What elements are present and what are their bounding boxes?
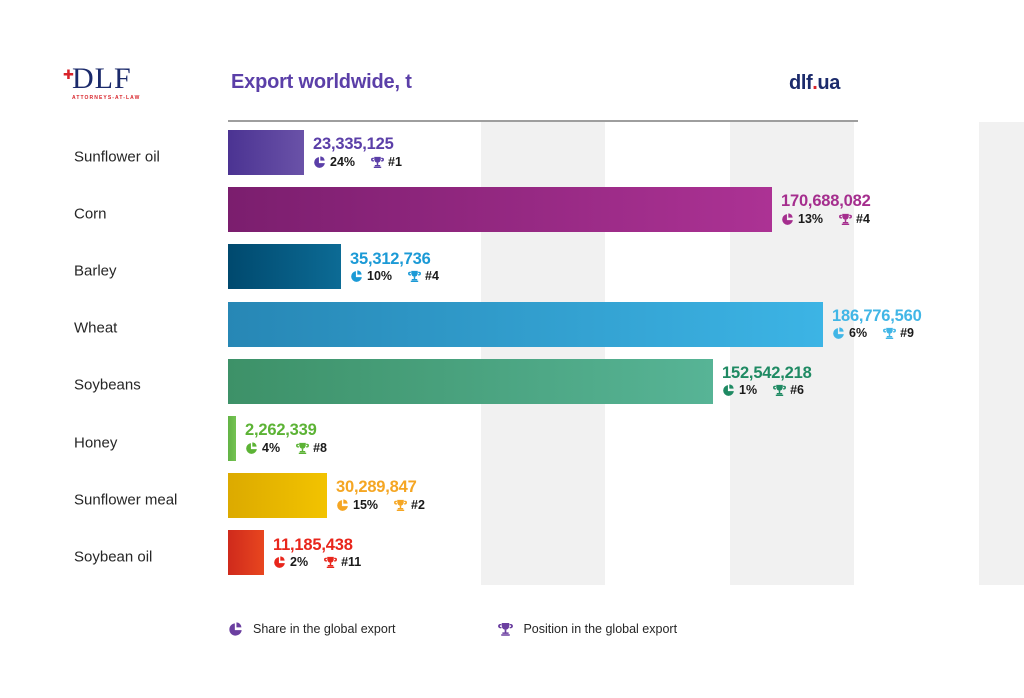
bar[interactable]: [228, 530, 264, 575]
category-label: Soybean oil: [74, 548, 208, 565]
logo-mark-text: DLF: [72, 62, 132, 95]
bar-value-label: 186,776,560: [832, 308, 922, 325]
bar-value-label: 35,312,736: [350, 251, 439, 268]
bar-meta-row: 1%#6: [722, 384, 812, 397]
pie-chart-icon: [722, 384, 735, 397]
bar-share-value: 15%: [353, 499, 378, 512]
trophy-icon: [324, 556, 337, 569]
category-label: Wheat: [74, 320, 208, 337]
bar-meta-row: 10%#4: [350, 270, 439, 283]
bar-label-group: 152,542,2181%#6: [722, 365, 812, 397]
pie-chart-icon: [313, 156, 326, 169]
chart-plot-area: 23,335,12524%#1170,688,08213%#435,312,73…: [228, 120, 858, 585]
bar-meta-row: 4%#8: [245, 442, 327, 455]
bar[interactable]: [228, 359, 713, 404]
bar-meta-row: 2%#11: [273, 556, 361, 569]
site-prefix: dlf: [789, 72, 812, 94]
bar-row[interactable]: 35,312,73610%#4: [228, 244, 858, 289]
legend-label-position: Position in the global export: [523, 622, 677, 636]
legend-item-share: Share in the global export: [228, 622, 395, 637]
site-url-wordmark: dlf.ua: [789, 72, 840, 95]
bar-value-label: 170,688,082: [781, 193, 871, 210]
trophy-icon: [394, 499, 407, 512]
bar-label-group: 11,185,4382%#11: [273, 537, 361, 569]
background-band: [979, 122, 1024, 585]
trophy-icon: [296, 442, 309, 455]
category-label: Honey: [74, 434, 208, 451]
pie-chart-icon: [781, 213, 794, 226]
chart-legend: Share in the global export Position in t…: [228, 618, 677, 640]
pie-chart-icon: [350, 270, 363, 283]
bar-label-group: 170,688,08213%#4: [781, 193, 871, 225]
bar-meta-row: 6%#9: [832, 327, 922, 340]
trophy-icon: [839, 213, 852, 226]
bar-row[interactable]: 11,185,4382%#11: [228, 530, 858, 575]
trophy-icon: [408, 270, 421, 283]
bar-value-label: 2,262,339: [245, 422, 327, 439]
bar-position-value: #1: [388, 156, 402, 169]
bar-value-label: 30,289,847: [336, 479, 425, 496]
bar-share-value: 4%: [262, 442, 280, 455]
pie-chart-icon: [245, 442, 258, 455]
trophy-icon: [371, 156, 384, 169]
bar-share-value: 6%: [849, 327, 867, 340]
legend-label-share: Share in the global export: [253, 622, 395, 636]
pie-chart-icon: [832, 327, 845, 340]
bar-share-value: 13%: [798, 213, 823, 226]
bar-position-value: #4: [425, 270, 439, 283]
bar-position-value: #2: [411, 499, 425, 512]
bar[interactable]: [228, 187, 772, 232]
bar-meta-row: 24%#1: [313, 156, 402, 169]
bar-position-value: #6: [790, 384, 804, 397]
category-label: Soybeans: [74, 377, 208, 394]
bar-value-label: 152,542,218: [722, 365, 812, 382]
bar-meta-row: 13%#4: [781, 213, 871, 226]
trophy-icon: [773, 384, 786, 397]
bar-label-group: 35,312,73610%#4: [350, 251, 439, 283]
bar-position-value: #4: [856, 213, 870, 226]
bar-row[interactable]: 152,542,2181%#6: [228, 359, 858, 404]
trophy-icon: [498, 622, 513, 637]
bar-position-value: #8: [313, 442, 327, 455]
bar-position-value: #11: [341, 556, 361, 569]
pie-chart-icon: [273, 556, 286, 569]
pie-chart-icon: [228, 622, 243, 637]
category-label: Sunflower meal: [74, 491, 208, 508]
dlf-logo: ✚ DLF ATTORNEYS-AT-LAW: [72, 64, 172, 106]
bar-share-value: 2%: [290, 556, 308, 569]
legend-item-position: Position in the global export: [498, 622, 677, 637]
category-label: Barley: [74, 262, 208, 279]
maple-leaf-cross-icon: ✚: [63, 70, 72, 79]
category-label: Corn: [74, 205, 208, 222]
bar-label-group: 30,289,84715%#2: [336, 479, 425, 511]
bar-value-label: 11,185,438: [273, 537, 361, 554]
page-title: Export worldwide, t: [231, 71, 412, 94]
site-suffix: ua: [817, 72, 840, 94]
category-axis: Sunflower oilCornBarleyWheatSoybeansHone…: [60, 126, 220, 585]
pie-chart-icon: [336, 499, 349, 512]
logo-tagline: ATTORNEYS-AT-LAW: [72, 95, 172, 101]
bar-position-value: #9: [900, 327, 914, 340]
bar-row[interactable]: 23,335,12524%#1: [228, 130, 858, 175]
bar-label-group: 23,335,12524%#1: [313, 136, 402, 168]
bar[interactable]: [228, 416, 236, 461]
bar-row[interactable]: 30,289,84715%#2: [228, 473, 858, 518]
logo-wordmark: ✚ DLF: [72, 64, 132, 94]
bar-label-group: 186,776,5606%#9: [832, 308, 922, 340]
bar-value-label: 23,335,125: [313, 136, 402, 153]
bar-row[interactable]: 186,776,5606%#9: [228, 302, 858, 347]
bar-share-value: 24%: [330, 156, 355, 169]
category-label: Sunflower oil: [74, 148, 208, 165]
bar[interactable]: [228, 302, 823, 347]
bar-row[interactable]: 2,262,3394%#8: [228, 416, 858, 461]
bar[interactable]: [228, 130, 304, 175]
bar[interactable]: [228, 473, 327, 518]
bar-label-group: 2,262,3394%#8: [245, 422, 327, 454]
bar-meta-row: 15%#2: [336, 499, 425, 512]
bar-share-value: 10%: [367, 270, 392, 283]
bar-row[interactable]: 170,688,08213%#4: [228, 187, 858, 232]
trophy-icon: [883, 327, 896, 340]
bars-layer: 23,335,12524%#1170,688,08213%#435,312,73…: [228, 122, 858, 585]
bar[interactable]: [228, 244, 341, 289]
bar-share-value: 1%: [739, 384, 757, 397]
